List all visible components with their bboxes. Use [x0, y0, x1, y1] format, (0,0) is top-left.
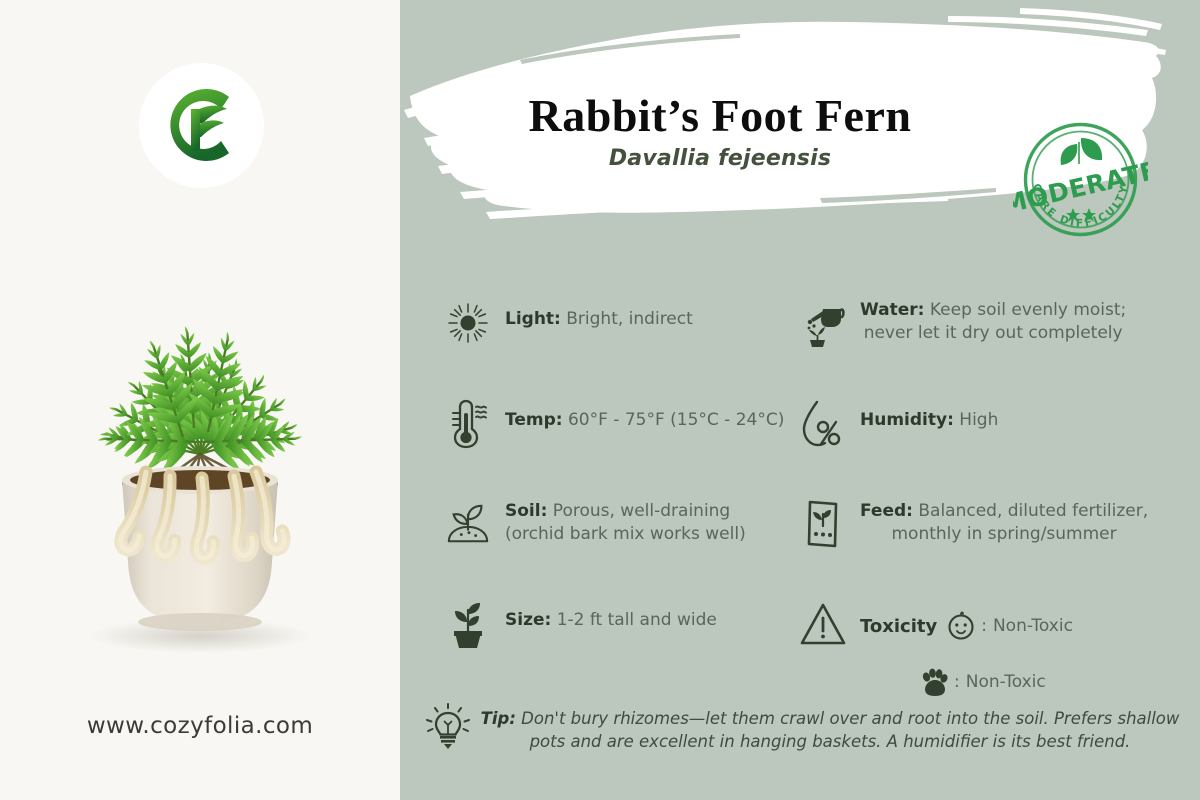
pet-toxicity-value: Non-Toxic [966, 672, 1046, 692]
care-text-temp: Temp: 60°F - 75°F (15°C - 24°C) [505, 398, 784, 432]
soil-label: Soil: [505, 501, 547, 521]
care-text-soil: Soil: Porous, well-draining (orchid bark… [505, 498, 746, 545]
light-value: Bright, indirect [566, 309, 693, 329]
care-row-temp: Temp: 60°F - 75°F (15°C - 24°C) [445, 398, 784, 450]
care-row-light: Light: Bright, indirect [445, 297, 693, 349]
humidity-droplet-icon [800, 398, 846, 450]
care-row-water: Water: Keep soil evenly moist; never let… [800, 297, 1126, 349]
pet-separator: : [954, 672, 960, 692]
brand-logo [139, 63, 264, 188]
page-title: Rabbit’s Foot Fern [400, 92, 1040, 140]
potted-plant-icon [445, 598, 491, 650]
lightbulb-icon [425, 703, 471, 753]
baby-separator: : [981, 616, 987, 636]
water-value-line2: never let it dry out completely [860, 322, 1126, 345]
care-difficulty-stamp: MODERATE CARE DIFFICULTY [1013, 112, 1148, 247]
soil-value-line2: (orchid bark mix works well) [505, 523, 746, 546]
baby-toxicity-value: Non-Toxic [993, 616, 1073, 636]
soil-value-line1: Porous, well-draining [553, 501, 730, 521]
plant-care-infographic: www.cozyfolia.com Rabbit’s F [0, 0, 1200, 800]
care-row-toxicity: Toxicity : Non-Toxic [800, 598, 1073, 698]
paw-print-icon [918, 666, 950, 698]
sun-icon [445, 297, 491, 349]
fertilizer-bag-icon [800, 498, 846, 550]
light-label: Light: [505, 309, 561, 329]
care-tip: Tip: Don't bury rhizomes—let them crawl … [425, 703, 1185, 754]
care-text-light: Light: Bright, indirect [505, 297, 693, 331]
humidity-value: High [959, 410, 998, 430]
water-value-line1: Keep soil evenly moist; [930, 300, 1126, 320]
website-url[interactable]: www.cozyfolia.com [0, 713, 400, 739]
water-label: Water: [860, 300, 924, 320]
care-text-size: Size: 1-2 ft tall and wide [505, 598, 717, 632]
size-label: Size: [505, 610, 551, 630]
watering-can-icon [800, 297, 846, 349]
tip-label: Tip: [481, 709, 516, 728]
care-text-humidity: Humidity: High [860, 398, 998, 432]
botanical-name: Davallia fejeensis [400, 146, 1040, 171]
seedling-in-soil-icon [445, 498, 491, 550]
cozyfolia-leaf-c-logo-icon [151, 75, 251, 175]
toxicity-pet-line: : Non-Toxic [918, 666, 1073, 698]
toxicity-baby-line: Toxicity : Non-Toxic [860, 598, 1073, 642]
care-row-soil: Soil: Porous, well-draining (orchid bark… [445, 498, 746, 550]
tip-line1: Don't bury rhizomes—let them crawl over … [521, 709, 1112, 728]
rabbits-foot-fern-photo [18, 232, 382, 672]
care-row-humidity: Humidity: High [800, 398, 998, 450]
thermometer-icon [445, 398, 491, 450]
title-block: Rabbit’s Foot Fern Davallia fejeensis [400, 92, 1040, 171]
care-text-water: Water: Keep soil evenly moist; never let… [860, 297, 1126, 344]
temp-label: Temp: [505, 410, 563, 430]
care-text-feed: Feed: Balanced, diluted fertilizer, mont… [860, 498, 1148, 545]
feed-label: Feed: [860, 501, 913, 521]
feed-value-line1: Balanced, diluted fertilizer, [918, 501, 1148, 521]
tip-text: Tip: Don't bury rhizomes—let them crawl … [477, 703, 1183, 754]
humidity-label: Humidity: [860, 410, 954, 430]
temp-value: 60°F - 75°F (15°C - 24°C) [568, 410, 784, 430]
size-value: 1-2 ft tall and wide [557, 610, 717, 630]
care-row-size: Size: 1-2 ft tall and wide [445, 598, 717, 650]
warning-triangle-icon [800, 598, 846, 650]
feed-value-line2: monthly in spring/summer [860, 523, 1148, 546]
baby-face-icon [945, 610, 977, 642]
left-panel: www.cozyfolia.com [0, 0, 400, 800]
leaf-icon [1061, 138, 1102, 165]
toxicity-label: Toxicity [860, 616, 937, 637]
care-row-feed: Feed: Balanced, diluted fertilizer, mont… [800, 498, 1148, 550]
